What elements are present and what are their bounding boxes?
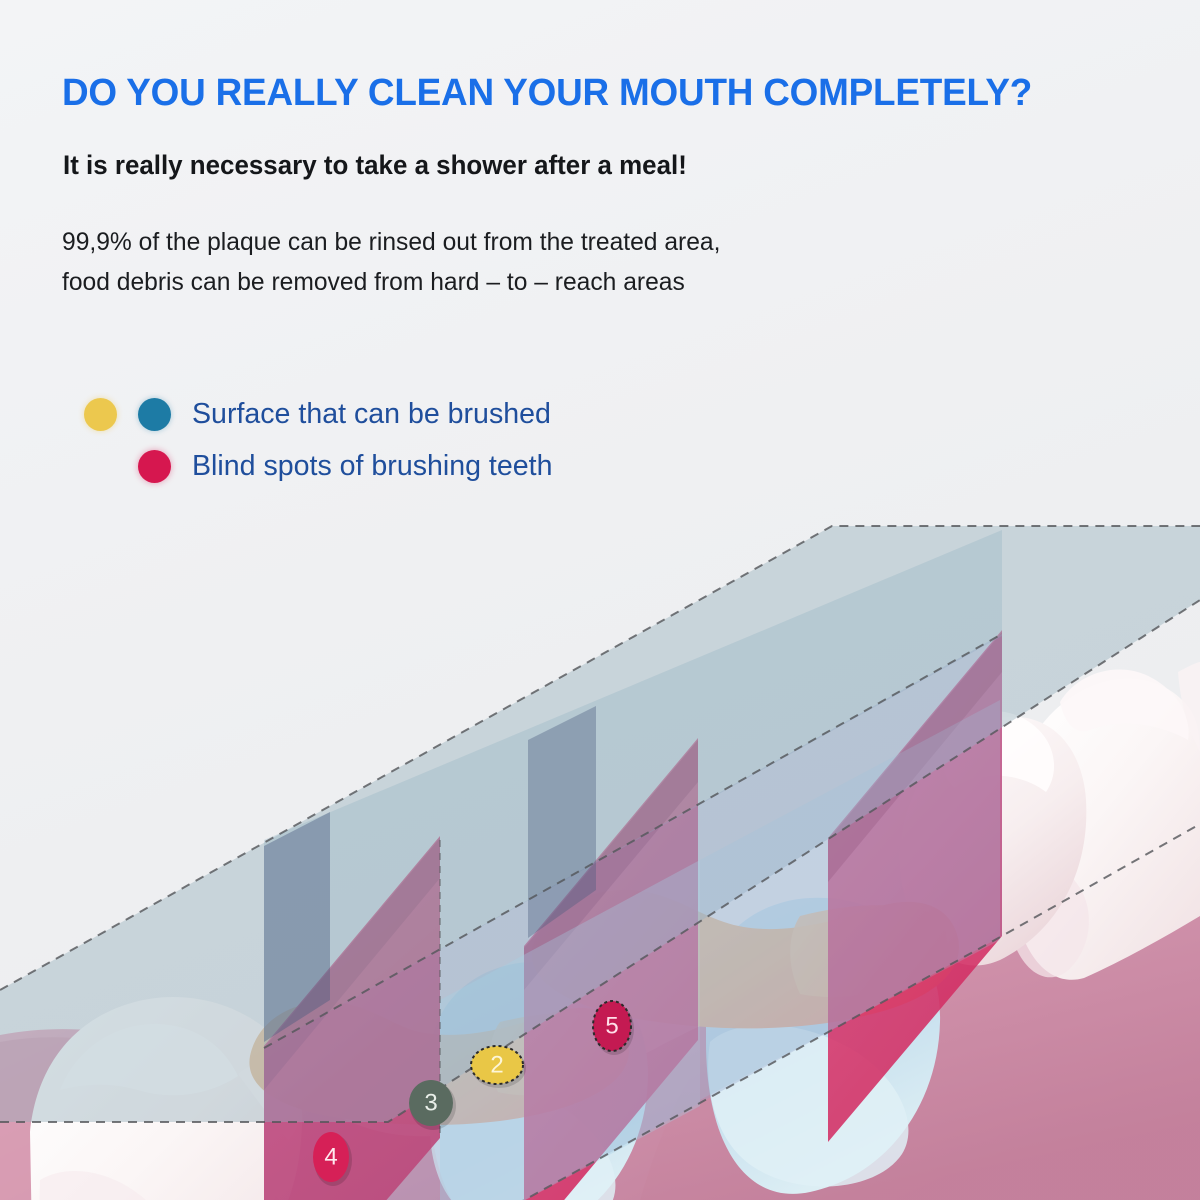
page-subtitle: It is really necessary to take a shower … — [63, 150, 687, 181]
body-copy: 99,9% of the plaque can be rinsed out fr… — [62, 222, 720, 302]
marker-label-2: 2 — [490, 1051, 503, 1078]
molar-cross-section-diagram: 12345 — [0, 300, 1200, 1200]
marker-label-5: 5 — [605, 1012, 618, 1039]
page-title: DO YOU REALLY CLEAN YOUR MOUTH COMPLETEL… — [62, 72, 1032, 115]
marker-label-4: 4 — [324, 1143, 337, 1170]
body-line-1: 99,9% of the plaque can be rinsed out fr… — [62, 222, 720, 262]
body-line-2: food debris can be removed from hard – t… — [62, 262, 720, 302]
marker-label-3: 3 — [424, 1089, 437, 1116]
infographic-canvas: DO YOU REALLY CLEAN YOUR MOUTH COMPLETEL… — [0, 0, 1200, 1200]
